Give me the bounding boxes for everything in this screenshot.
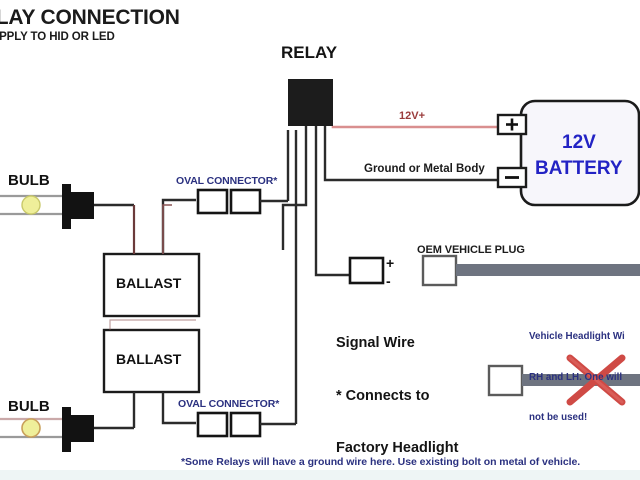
bulb-top-base-body — [71, 192, 94, 219]
bulb-top-group — [0, 184, 134, 229]
oval-connector-bottom-right-box — [231, 413, 260, 436]
oem-vehicle-plug-box — [423, 256, 456, 285]
signal-wire-note-line: Signal Wire — [336, 335, 458, 353]
vehicle-headlight-note: Vehicle Headlight Wi RH and LH. One will… — [529, 303, 625, 452]
oval-connector-bottom-left-box — [198, 413, 227, 436]
bulb-bottom-glow-icon — [22, 419, 40, 437]
bulb-bottom-base-flange — [62, 407, 71, 452]
oem-vehicle-plug-wire — [456, 264, 640, 276]
bottom-band — [0, 470, 640, 480]
bulb-bottom-label: BULB — [8, 398, 50, 415]
oval-connector-top-right-box — [231, 190, 260, 213]
oval-connector-top-left-box — [198, 190, 227, 213]
ballast-top-right-wire — [163, 200, 196, 254]
oval-connector-bottom-label: OVAL CONNECTOR* — [178, 398, 279, 410]
unused-headlight-plug-box — [489, 366, 522, 395]
relay-wire-positive — [333, 126, 501, 127]
page-title: ELAY CONNECTION — [0, 6, 180, 30]
diagram-canvas: ELAY CONNECTION N APPLY TO HID OR LED RE… — [0, 0, 640, 480]
ballast-top-label: BALLAST — [116, 275, 181, 291]
signal-wire-note: Signal Wire * Connects to Factory Headli… — [336, 300, 458, 480]
battery-voltage-label: 12V — [562, 132, 596, 154]
relay-wire-signal-left — [283, 126, 306, 250]
ballast-link-wire — [110, 320, 196, 330]
signal-connector-plus-label: + — [386, 255, 394, 271]
vehicle-headlight-note-line: RH and LH. One will — [529, 371, 625, 385]
signal-wire-connector-box — [350, 258, 383, 283]
signal-connector-minus-label: - — [386, 273, 391, 289]
page-subtitle: N APPLY TO HID OR LED — [0, 31, 115, 43]
signal-wire-note-line: * Connects to — [336, 388, 458, 406]
vehicle-headlight-note-line: not be used! — [529, 411, 625, 425]
relay-body — [288, 79, 333, 126]
oval-connector-top-group — [198, 130, 288, 213]
battery-name-label: BATTERY — [535, 158, 623, 180]
bulb-bottom-base-body — [71, 415, 94, 442]
bulb-top-glow-icon — [22, 196, 40, 214]
oem-vehicle-plug-label: OEM VEHICLE PLUG — [417, 244, 525, 256]
ballast-bottom-label: BALLAST — [116, 351, 181, 367]
ground-wire-label: Ground or Metal Body — [364, 163, 485, 175]
relay-wire-signal — [316, 126, 350, 275]
bulb-top-base-flange — [62, 184, 71, 229]
relay-label: RELAY — [281, 43, 337, 63]
oval-connector-top-label: OVAL CONNECTOR* — [176, 175, 277, 187]
footer-note: *Some Relays will have a ground wire her… — [181, 456, 580, 468]
signal-wire-note-line: Factory Headlight — [336, 440, 458, 458]
positive-wire-label: 12V+ — [399, 110, 425, 122]
bulb-top-label: BULB — [8, 172, 50, 189]
ballast-top-right-wire-red — [163, 205, 172, 254]
vehicle-headlight-note-line: Vehicle Headlight Wi — [529, 330, 625, 344]
